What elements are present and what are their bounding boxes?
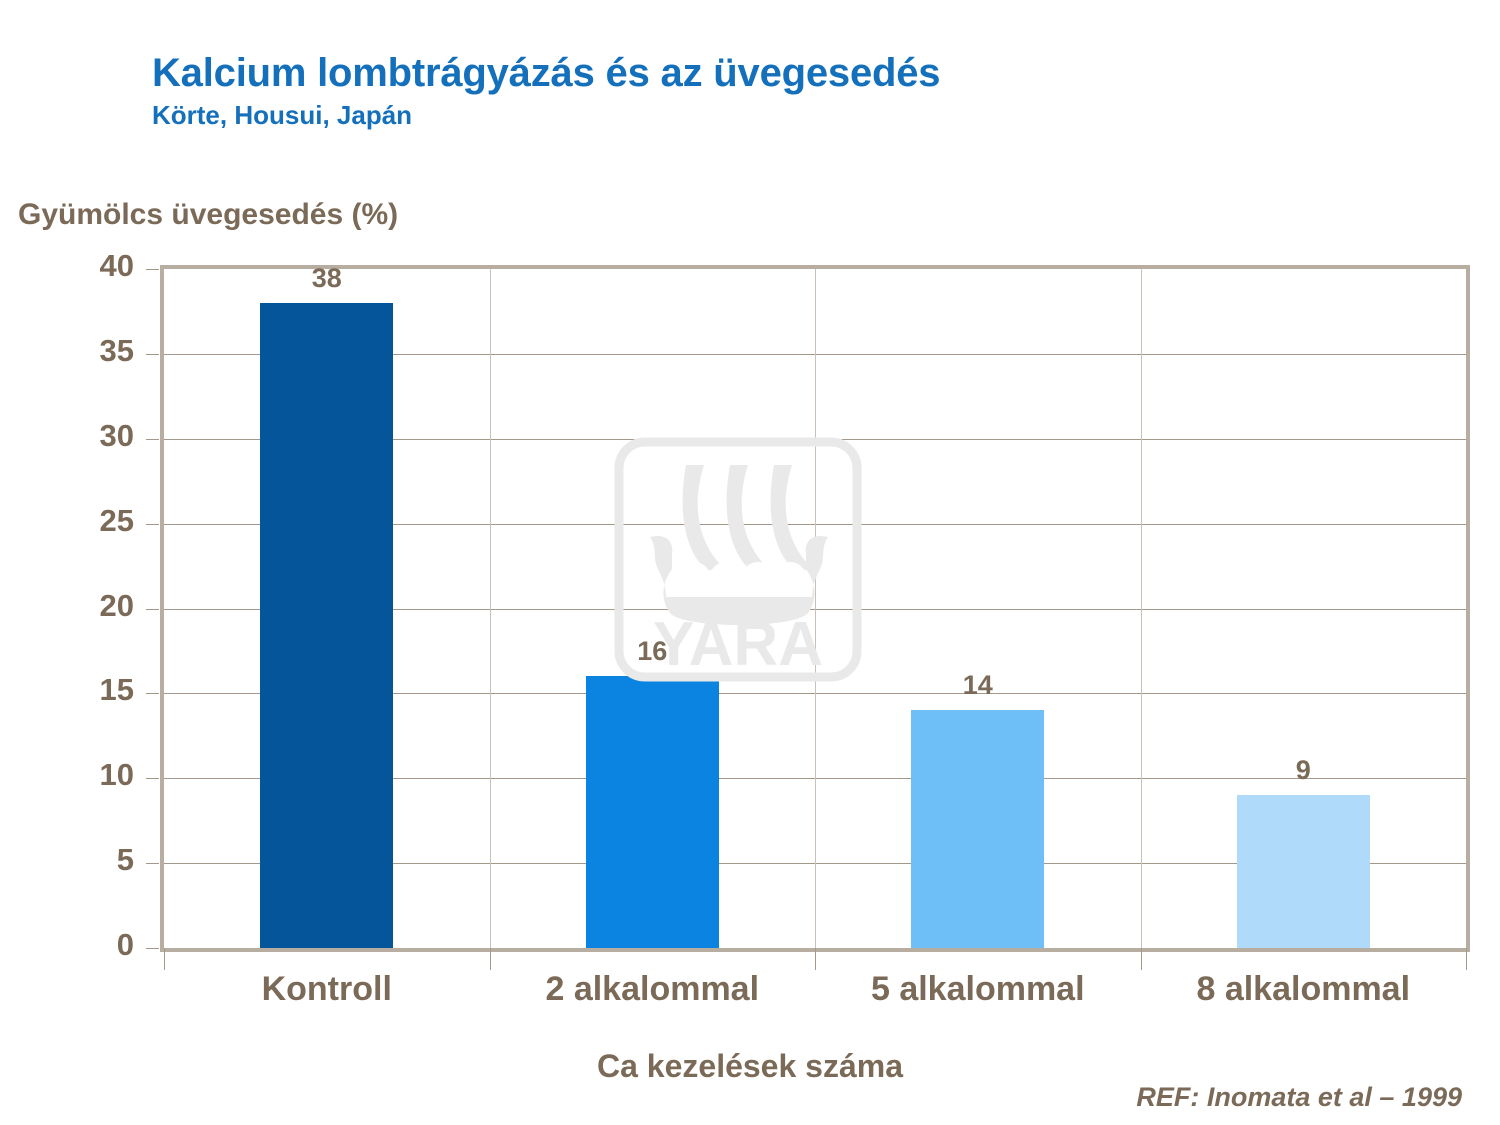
- y-tick-mark: [146, 948, 159, 949]
- x-category-label: 8 alkalommal: [1123, 970, 1483, 1009]
- plot-inner: [164, 269, 1466, 948]
- y-tick-label: 15: [100, 672, 134, 708]
- x-tick-mark: [1141, 948, 1142, 970]
- y-tick-mark: [146, 693, 159, 694]
- x-axis-title: Ca kezelések száma: [0, 1048, 1500, 1085]
- x-tick-mark: [1466, 948, 1467, 970]
- bar-3[interactable]: [911, 710, 1044, 948]
- category-separator: [815, 269, 816, 948]
- bar-value-label: 9: [1233, 755, 1373, 786]
- bar-value-label: 16: [582, 636, 722, 667]
- y-tick-label: 20: [100, 588, 134, 624]
- y-tick-label: 30: [100, 418, 134, 454]
- y-tick-label: 10: [100, 757, 134, 793]
- y-tick-mark: [146, 354, 159, 355]
- plot-area: [160, 265, 1470, 952]
- bar-value-label: 38: [257, 263, 397, 294]
- title-block: Kalcium lombtrágyázás és az üvegesedés K…: [152, 52, 1352, 131]
- y-tick-mark: [146, 439, 159, 440]
- y-tick-label: 25: [100, 503, 134, 539]
- page-title: Kalcium lombtrágyázás és az üvegesedés: [152, 52, 1352, 94]
- x-tick-mark: [490, 948, 491, 970]
- y-tick-label: 0: [117, 927, 134, 963]
- y-tick-label: 5: [117, 842, 134, 878]
- x-tick-mark: [164, 948, 165, 970]
- page-subtitle: Körte, Housui, Japán: [152, 100, 1352, 131]
- y-axis-title: Gyümölcs üvegesedés (%): [18, 198, 398, 232]
- bar-value-label: 14: [908, 670, 1048, 701]
- y-tick-mark: [146, 524, 159, 525]
- bar-1[interactable]: [260, 303, 393, 948]
- bar-4[interactable]: [1237, 795, 1370, 948]
- x-category-label: Kontroll: [147, 970, 507, 1009]
- y-tick-label: 40: [100, 248, 134, 284]
- y-tick-label: 35: [100, 333, 134, 369]
- bar-2[interactable]: [586, 676, 719, 948]
- x-category-label: 5 alkalommal: [798, 970, 1158, 1009]
- y-tick-mark: [146, 269, 159, 270]
- x-tick-mark: [815, 948, 816, 970]
- category-separator: [490, 269, 491, 948]
- y-tick-mark: [146, 609, 159, 610]
- category-separator: [1141, 269, 1142, 948]
- y-tick-mark: [146, 778, 159, 779]
- reference-note: REF: Inomata et al – 1999: [1136, 1082, 1462, 1113]
- x-category-label: 2 alkalommal: [472, 970, 832, 1009]
- y-tick-mark: [146, 863, 159, 864]
